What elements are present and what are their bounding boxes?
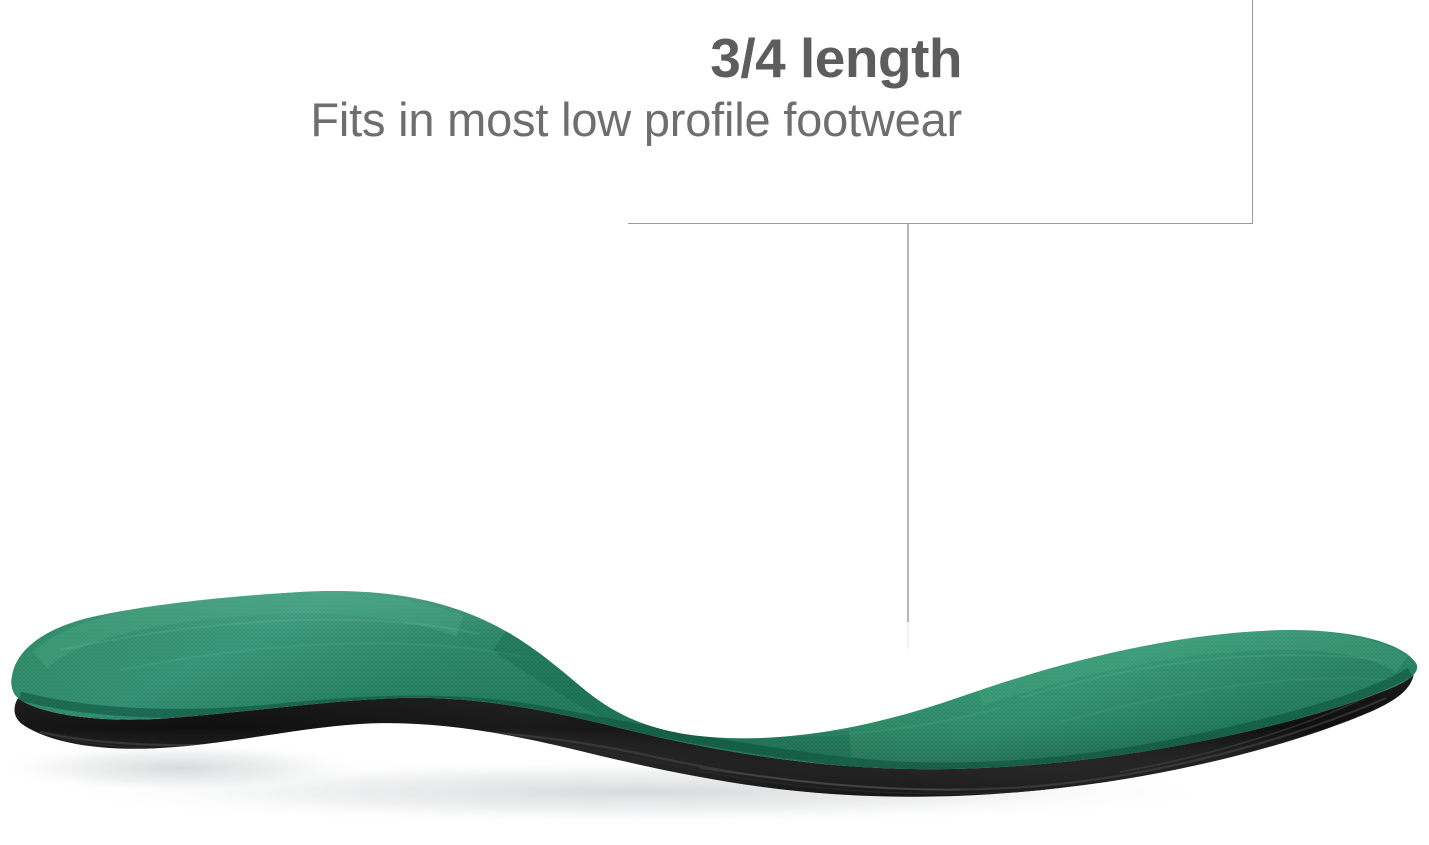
product-feature-callout-image: 3/4 length Fits in most low profile foot… [0,0,1429,845]
drop-shadow-heel [0,742,370,794]
callout-marker-circle-icon [891,649,924,682]
callout-text-block: 3/4 length Fits in most low profile foot… [0,30,1200,146]
product-photo-insole [0,500,1429,845]
callout-leader-line [907,224,909,650]
callout-leader-line-over-product [907,622,909,649]
callout-subheadline: Fits in most low profile footwear [0,94,962,147]
callout-headline: 3/4 length [0,30,962,88]
